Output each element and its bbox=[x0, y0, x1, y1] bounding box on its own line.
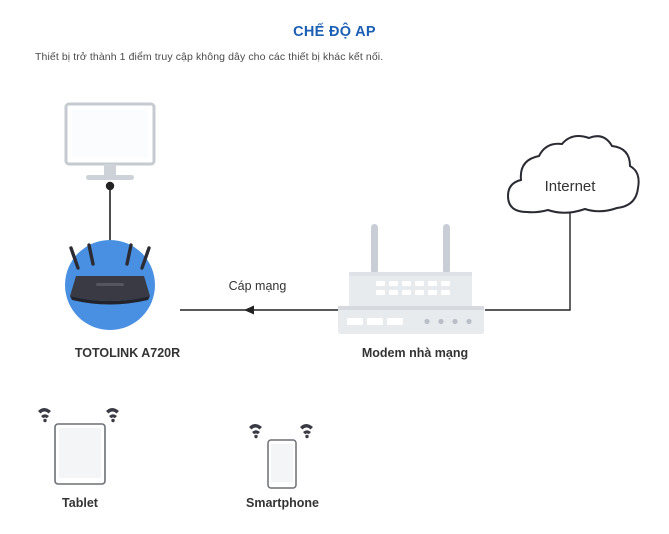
diagram-graphics bbox=[0, 0, 669, 534]
tablet-node-label: Tablet bbox=[10, 496, 150, 510]
internet-node-label: Internet bbox=[495, 178, 645, 195]
smartphone-icon bbox=[249, 424, 313, 488]
wifi-signal-icon bbox=[300, 424, 313, 438]
wifi-signal-icon bbox=[249, 424, 262, 438]
modem-node-label: Modem nhà mạng bbox=[295, 346, 535, 360]
diagram-canvas: CHẾ ĐỘ AP Thiết bị trở thành 1 điểm truy… bbox=[0, 0, 669, 534]
modem-icon bbox=[338, 224, 484, 334]
wifi-signal-icon bbox=[38, 408, 51, 422]
router-node-label: TOTOLINK A720R bbox=[0, 346, 255, 360]
cloud-icon bbox=[508, 136, 639, 213]
wifi-signal-icon bbox=[106, 408, 119, 422]
modem-internet-link bbox=[485, 212, 570, 310]
smartphone-node-label: Smartphone bbox=[200, 496, 365, 510]
wifi-router-icon bbox=[65, 240, 155, 330]
cable-edge-label: Cáp mạng bbox=[175, 279, 340, 293]
modem-router-link bbox=[180, 306, 340, 315]
tablet-icon bbox=[38, 408, 119, 484]
monitor-icon bbox=[66, 104, 154, 180]
